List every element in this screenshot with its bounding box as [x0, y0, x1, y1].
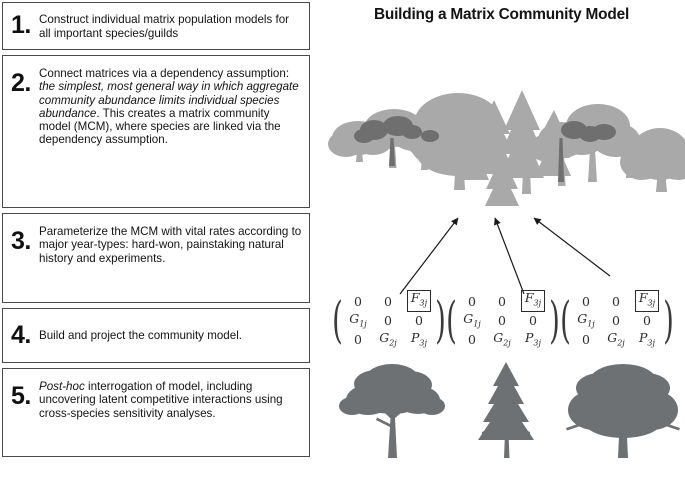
matrix-left-paren: (: [562, 292, 568, 349]
matrix-cell-fecundity-boxed: F3j: [521, 290, 545, 312]
figure-panel: Building a Matrix Community Model: [318, 0, 685, 481]
matrix-cell: G2j: [607, 330, 625, 348]
matrix-cell: 0: [582, 332, 590, 347]
matrix-cell: P3j: [411, 330, 427, 348]
matrix-cell: 0: [384, 294, 392, 309]
matrix-cell: 0: [612, 313, 620, 328]
matrix-cell: 0: [384, 313, 392, 328]
matrix-cell: G1j: [349, 311, 367, 329]
step-number: 3.: [8, 229, 39, 254]
spreading-broadleaf-tree: [339, 364, 445, 458]
matrix-set: (00F3jG1j000G2jP3j)(00F3jG1j000G2jP3j)(0…: [332, 286, 685, 354]
step-number: 4.: [8, 323, 39, 348]
matrix-cells: 00F3jG1j000G2jP3j: [343, 292, 435, 349]
matrix-cell-fecundity-boxed: F3j: [407, 290, 431, 312]
species-3-matrix: (00F3jG1j000G2jP3j): [560, 292, 674, 349]
matrix-cell: 0: [498, 313, 506, 328]
matrix-cell: 0: [612, 294, 620, 309]
matrix-cell: P3j: [525, 330, 541, 348]
round-crown-broadleaf-tree: [566, 364, 680, 458]
matrix-cell: G1j: [577, 311, 595, 329]
matrix-right-paren: ): [551, 292, 557, 349]
species-2-matrix: (00F3jG1j000G2jP3j): [446, 292, 560, 349]
workflow-step-5: 5. Post-hoc interrogation of model, incl…: [2, 368, 310, 457]
matrix-cell: 0: [468, 294, 476, 309]
species-silhouettes: [326, 358, 685, 478]
matrix-cell: 0: [582, 294, 590, 309]
matrix-cell: 0: [354, 332, 362, 347]
matrix-cell: 0: [643, 313, 651, 328]
matrix-cells: 00F3jG1j000G2jP3j: [457, 292, 549, 349]
arrow-matrix-3-to-canopy: [534, 218, 610, 276]
matrix-cell: 0: [468, 332, 476, 347]
conifer-tree: [478, 362, 534, 458]
matrix-cell: 0: [498, 294, 506, 309]
matrix-left-paren: (: [334, 292, 340, 349]
step-text: Post-hoc interrogation of model, includi…: [39, 374, 303, 420]
matrix-right-paren: ): [665, 292, 671, 349]
step-number: 2.: [8, 71, 39, 96]
matrix-cell: 0: [415, 313, 423, 328]
workflow-step-2: 2. Connect matrices via a dependency ass…: [2, 55, 310, 208]
workflow-step-1: 1. Construct individual matrix populatio…: [2, 2, 310, 50]
matrix-cell: 0: [354, 294, 362, 309]
matrix-cell: G1j: [463, 311, 481, 329]
matrix-cell-fecundity-boxed: F3j: [635, 290, 659, 312]
matrix-cell: G2j: [379, 330, 397, 348]
forest-canopy-illustration: [326, 82, 685, 222]
arrow-matrix-1-to-canopy: [400, 218, 458, 294]
matrix-right-paren: ): [437, 292, 443, 349]
step-number: 5.: [8, 384, 39, 409]
arrow-matrix-2-to-canopy: [495, 218, 524, 294]
species-1-matrix: (00F3jG1j000G2jP3j): [332, 292, 446, 349]
matrix-cell: 0: [529, 313, 537, 328]
workflow-step-3: 3. Parameterize the MCM with vital rates…: [2, 213, 310, 303]
matrix-cell: G2j: [493, 330, 511, 348]
matrix-cell: P3j: [639, 330, 655, 348]
step-text: Parameterize the MCM with vital rates ac…: [39, 219, 303, 265]
step-text: Connect matrices via a dependency assump…: [39, 61, 303, 147]
figure-title: Building a Matrix Community Model: [318, 6, 685, 24]
step-number: 1.: [8, 13, 39, 38]
step-text: Construct individual matrix population m…: [39, 12, 303, 40]
workflow-step-4: 4. Build and project the community model…: [2, 308, 310, 363]
workflow-steps-list: 1. Construct individual matrix populatio…: [2, 2, 310, 479]
step-text: Build and project the community model.: [39, 328, 303, 342]
matrix-cells: 00F3jG1j000G2jP3j: [571, 292, 663, 349]
matrix-left-paren: (: [448, 292, 454, 349]
